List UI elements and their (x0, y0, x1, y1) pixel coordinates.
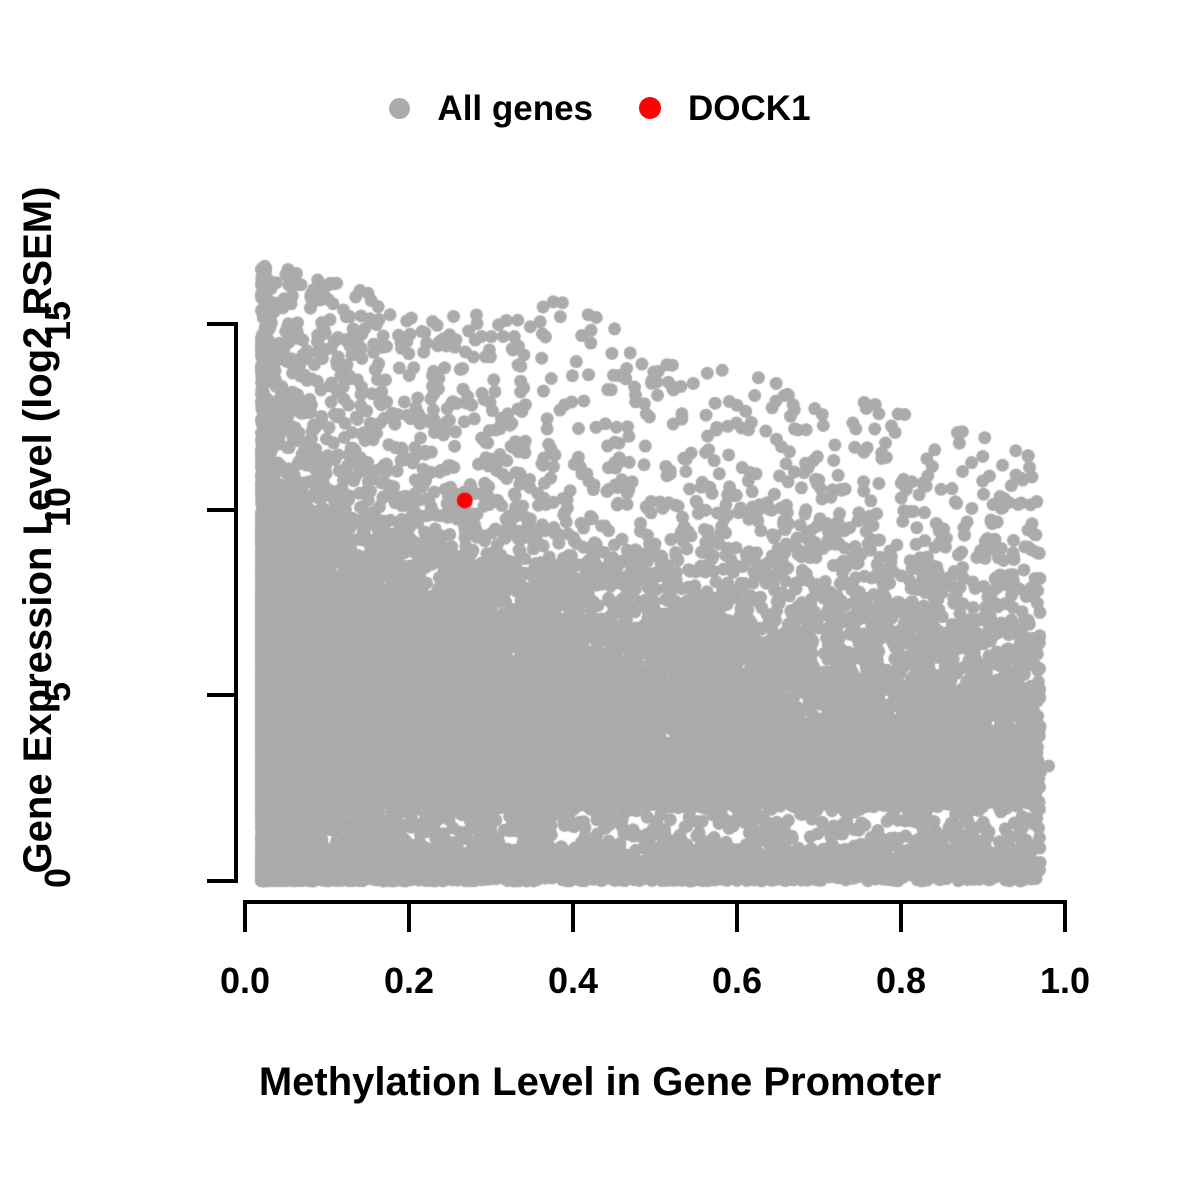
legend-label-dock1: DOCK1 (688, 91, 811, 126)
x-tick-label-0.6: 0.6 (667, 960, 807, 1002)
chart-legend: All genes DOCK1 (0, 82, 1200, 134)
plot-panel (236, 228, 1076, 888)
x-tick-label-0.2: 0.2 (339, 960, 479, 1002)
x-tick-label-0.4: 0.4 (503, 960, 643, 1002)
legend-label-all-genes: All genes (437, 91, 593, 126)
y-axis-title: Gene Expression Level (log2 RSEM) (16, 100, 61, 960)
y-tick-0 (207, 879, 235, 883)
x-tick-label-0.0: 0.0 (175, 960, 315, 1002)
y-axis-line (234, 322, 238, 883)
x-tick-0.2 (407, 902, 411, 932)
x-tick-0.6 (735, 902, 739, 932)
y-tick-5 (207, 693, 235, 697)
x-tick-0.4 (571, 902, 575, 932)
x-tick-0.8 (899, 902, 903, 932)
scatter-points-layer (236, 228, 1076, 888)
x-tick-0.0 (243, 902, 247, 932)
y-tick-10 (207, 508, 235, 512)
scatter-plot-figure: All genes DOCK1 051015 0.00.20.40.60.81.… (0, 0, 1200, 1200)
x-tick-label-1.0: 1.0 (995, 960, 1135, 1002)
legend-item-all-genes: All genes (389, 91, 593, 126)
y-tick-15 (207, 322, 235, 326)
legend-marker-dock1-icon (639, 97, 661, 119)
x-tick-1.0 (1063, 902, 1067, 932)
x-axis-line (243, 900, 1067, 904)
legend-marker-all-genes-icon (389, 98, 410, 119)
x-axis-title: Methylation Level in Gene Promoter (0, 1060, 1200, 1105)
x-tick-label-0.8: 0.8 (831, 960, 971, 1002)
legend-item-dock1: DOCK1 (639, 91, 811, 126)
